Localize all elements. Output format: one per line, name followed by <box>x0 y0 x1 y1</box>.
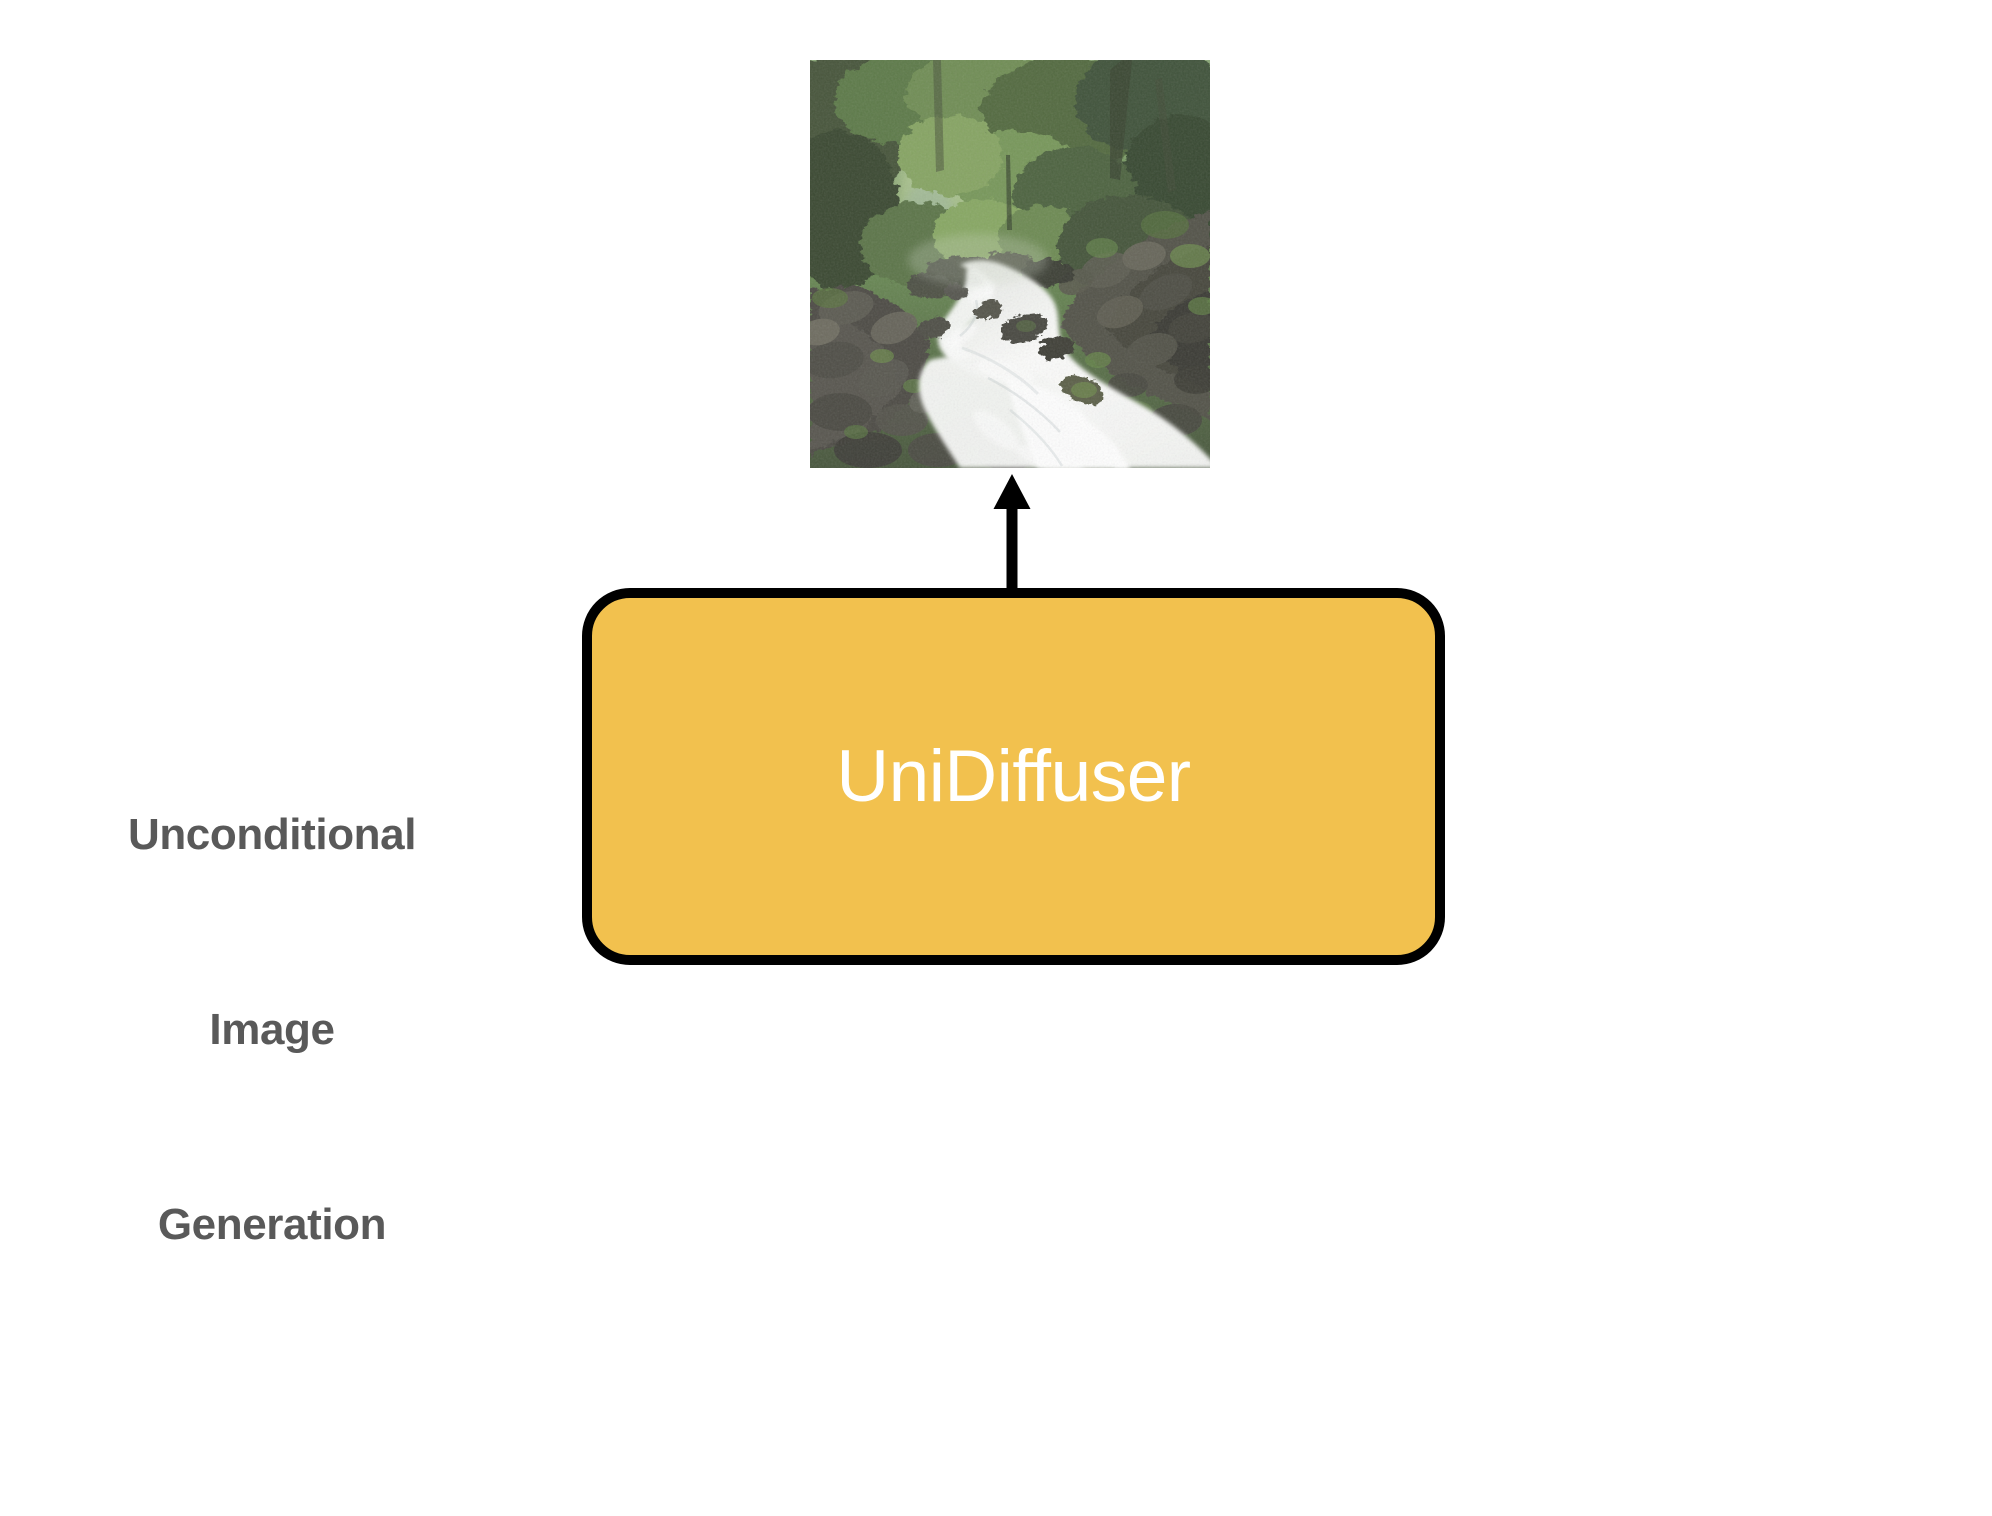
task-label-line-3: Generation <box>72 1192 472 1257</box>
output-arrow <box>978 470 1046 592</box>
task-label-line-1: Unconditional <box>72 802 472 867</box>
unidiffuser-model-label: UniDiffuser <box>836 740 1190 813</box>
unidiffuser-model-box[interactable]: UniDiffuser <box>582 588 1445 965</box>
arrow-up-icon <box>994 474 1031 592</box>
task-label-line-2: Image <box>72 997 472 1062</box>
unconditional-image-generation-label: Unconditional Image Generation <box>72 672 472 1387</box>
generated-image <box>810 60 1210 468</box>
diagram-canvas: Unconditional Image Generation UniDiffus… <box>0 0 1992 1516</box>
